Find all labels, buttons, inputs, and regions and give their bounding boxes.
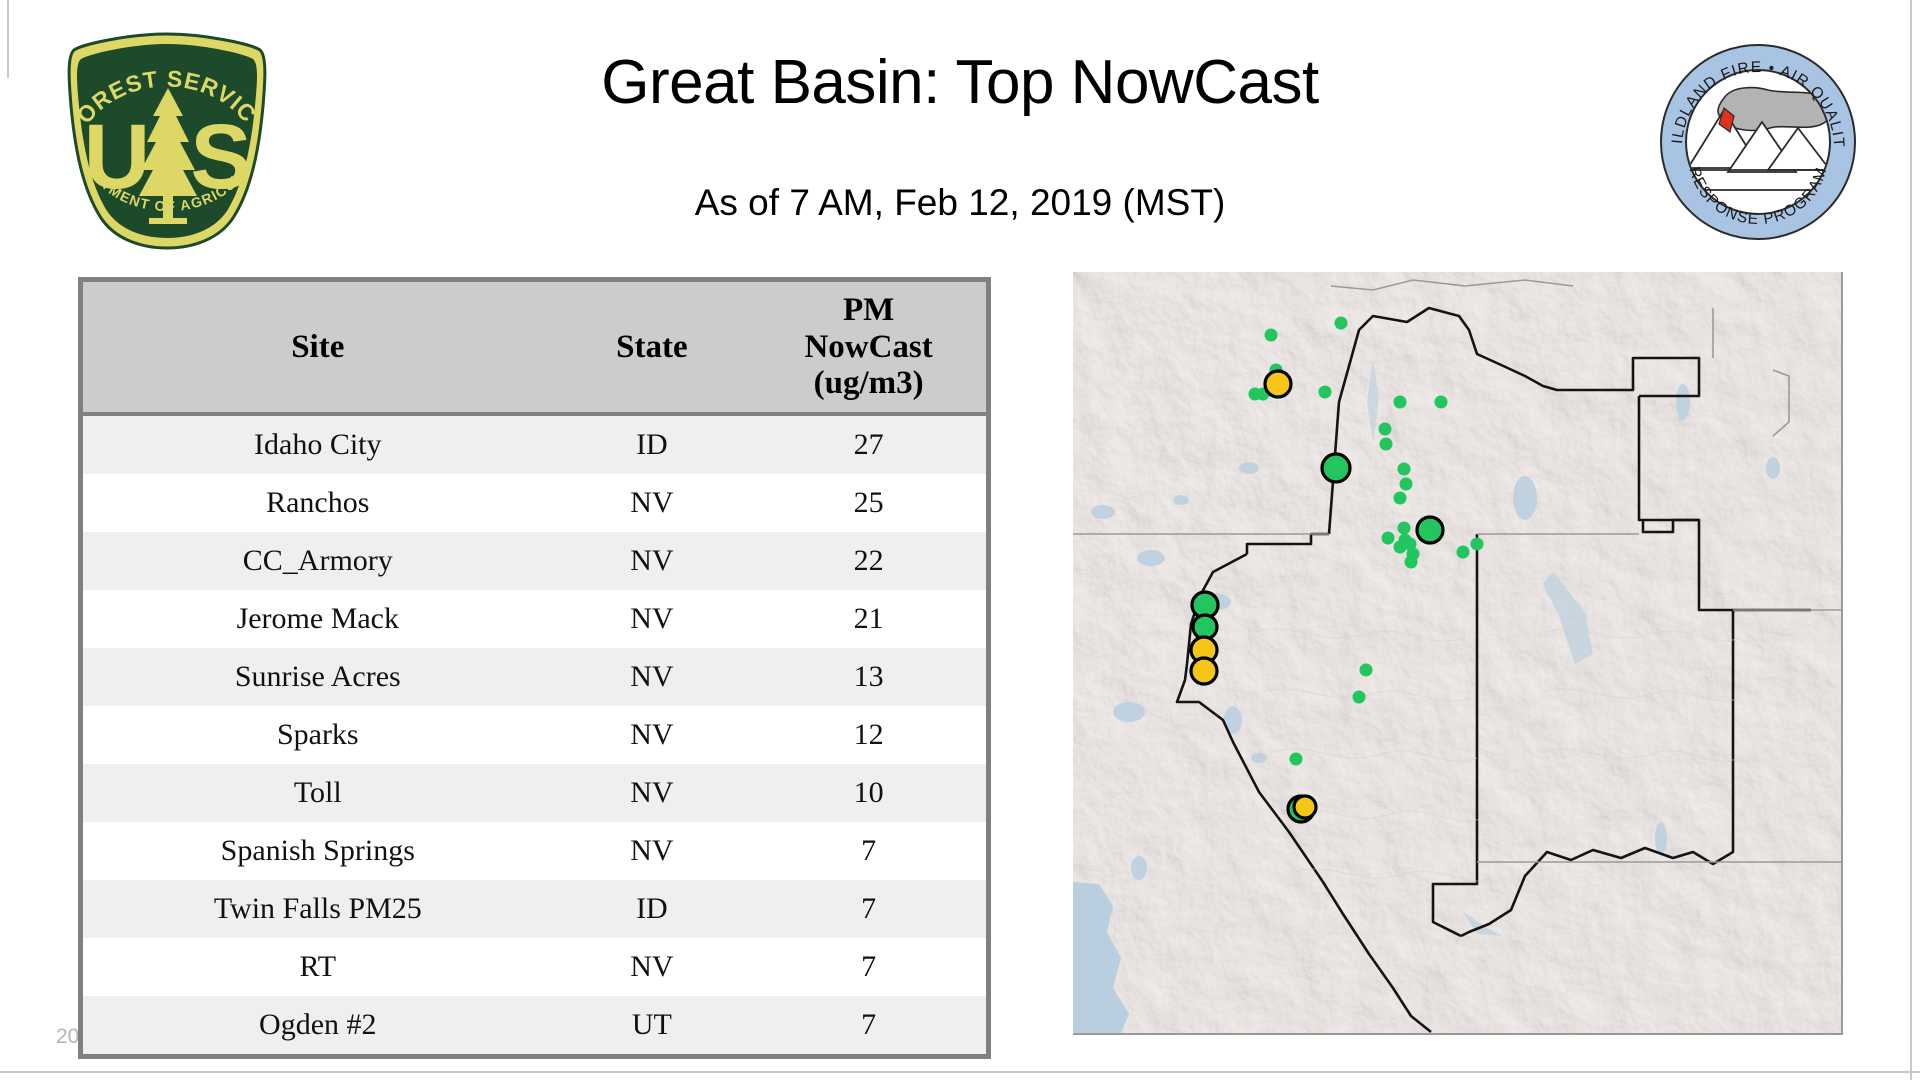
table-row[interactable]: Twin Falls PM25ID7	[83, 880, 986, 938]
cell-state: NV	[553, 648, 752, 706]
slide-edge-left-rule	[7, 0, 9, 78]
map-station-marker-minor[interactable]	[1335, 317, 1348, 330]
wfaqrp-logo: WILDLAND FIRE • AIR QUALITY RESPONSE PRO…	[1658, 42, 1858, 242]
cell-state: ID	[553, 414, 752, 474]
map-station-marker-minor[interactable]	[1380, 438, 1393, 451]
nowcast-table: Site State PM NowCast (ug/m3) Idaho City…	[83, 282, 986, 1054]
table-body: Idaho CityID27RanchosNV25CC_ArmoryNV22Je…	[83, 414, 986, 1054]
cell-pm-nowcast: 22	[751, 532, 986, 590]
cell-pm-nowcast: 10	[751, 764, 986, 822]
cell-state: NV	[553, 590, 752, 648]
map-station-marker-minor[interactable]	[1382, 532, 1395, 545]
map-station-marker-minor[interactable]	[1400, 478, 1413, 491]
table-row[interactable]: Jerome MackNV21	[83, 590, 986, 648]
map-station-marker-minor[interactable]	[1398, 522, 1411, 535]
page-title: Great Basin: Top NowCast	[300, 50, 1620, 115]
page-subtitle: As of 7 AM, Feb 12, 2019 (MST)	[300, 182, 1620, 224]
nowcast-table-container: Site State PM NowCast (ug/m3) Idaho City…	[78, 277, 991, 1059]
cell-site: CC_Armory	[83, 532, 553, 590]
table-row[interactable]: RanchosNV25	[83, 474, 986, 532]
cell-site: Idaho City	[83, 414, 553, 474]
map-station-marker-minor[interactable]	[1319, 386, 1332, 399]
cell-state: NV	[553, 706, 752, 764]
map-station-marker-minor[interactable]	[1457, 546, 1470, 559]
cell-pm-nowcast: 12	[751, 706, 986, 764]
map-station-marker-minor[interactable]	[1290, 753, 1303, 766]
great-basin-aqi-map[interactable]: Idaho CityTwin Falls PM25Ogden #2Spanish…	[1073, 272, 1843, 1035]
cell-site: Jerome Mack	[83, 590, 553, 648]
cell-pm-nowcast: 13	[751, 648, 986, 706]
cell-pm-nowcast: 27	[751, 414, 986, 474]
column-header-pm-line3: (ug/m3)	[753, 365, 984, 402]
usfs-shield-logo: FOREST SERVICE DEPARTMENT OF AGRICULTURE…	[55, 30, 280, 252]
map-station-marker-top[interactable]: Sparks	[1193, 615, 1217, 639]
table-row[interactable]: TollNV10	[83, 764, 986, 822]
table-row[interactable]: SparksNV12	[83, 706, 986, 764]
cell-site: RT	[83, 938, 553, 996]
column-header-pm-line1: PM	[753, 292, 984, 329]
column-header-state-label: State	[616, 329, 687, 365]
slide-edge-right-rule	[1910, 0, 1912, 1080]
column-header-pm-nowcast[interactable]: PM NowCast (ug/m3)	[751, 282, 986, 414]
usfs-letter-u: U	[84, 106, 150, 208]
cell-site: Ogden #2	[83, 996, 553, 1054]
map-station-marker-top[interactable]: Twin Falls PM25	[1322, 454, 1350, 482]
map-canvas[interactable]: Idaho CityTwin Falls PM25Ogden #2Spanish…	[1073, 272, 1841, 1033]
map-station-marker-minor[interactable]	[1379, 423, 1392, 436]
column-header-site-label: Site	[291, 329, 344, 365]
cell-state: NV	[553, 474, 752, 532]
map-station-marker-top[interactable]: Ogden #2	[1417, 517, 1443, 543]
cell-state: NV	[553, 764, 752, 822]
map-station-marker-minor[interactable]	[1435, 396, 1448, 409]
cell-pm-nowcast: 7	[751, 996, 986, 1054]
cell-state: NV	[553, 822, 752, 880]
table-header-row: Site State PM NowCast (ug/m3)	[83, 282, 986, 414]
cell-pm-nowcast: 25	[751, 474, 986, 532]
column-header-site[interactable]: Site	[83, 282, 553, 414]
cell-state: NV	[553, 532, 752, 590]
table-header: Site State PM NowCast (ug/m3)	[83, 282, 986, 414]
cell-site: Toll	[83, 764, 553, 822]
table-row[interactable]: Sunrise AcresNV13	[83, 648, 986, 706]
column-header-state[interactable]: State	[553, 282, 752, 414]
map-station-marker-minor[interactable]	[1471, 538, 1484, 551]
map-station-marker-minor[interactable]	[1265, 329, 1278, 342]
map-station-marker-top[interactable]: Idaho City	[1265, 371, 1291, 397]
map-station-marker-minor[interactable]	[1360, 664, 1373, 677]
map-station-marker-top[interactable]: Sunrise Acres	[1294, 796, 1316, 818]
cell-site: Sunrise Acres	[83, 648, 553, 706]
map-station-marker-minor[interactable]	[1394, 396, 1407, 409]
map-station-marker-minor[interactable]	[1398, 463, 1411, 476]
usfs-letter-s: S	[190, 106, 251, 208]
cell-state: ID	[553, 880, 752, 938]
map-station-marker-top[interactable]: Ranchos	[1191, 658, 1217, 684]
cell-site: Sparks	[83, 706, 553, 764]
cell-site: Ranchos	[83, 474, 553, 532]
cell-pm-nowcast: 7	[751, 880, 986, 938]
cell-state: UT	[553, 996, 752, 1054]
map-station-marker-minor[interactable]	[1353, 691, 1366, 704]
cell-site: Spanish Springs	[83, 822, 553, 880]
table-row[interactable]: Idaho CityID27	[83, 414, 986, 474]
cell-site: Twin Falls PM25	[83, 880, 553, 938]
cell-pm-nowcast: 21	[751, 590, 986, 648]
slide-edge-bottom-rule	[0, 1071, 1920, 1073]
map-station-marker-minor[interactable]	[1394, 492, 1407, 505]
cell-pm-nowcast: 7	[751, 938, 986, 996]
map-station-marker-minor[interactable]	[1405, 556, 1418, 569]
table-row[interactable]: RTNV7	[83, 938, 986, 996]
table-row[interactable]: CC_ArmoryNV22	[83, 532, 986, 590]
cell-pm-nowcast: 7	[751, 822, 986, 880]
table-row[interactable]: Ogden #2UT7	[83, 996, 986, 1054]
table-row[interactable]: Spanish SpringsNV7	[83, 822, 986, 880]
column-header-pm-line2: NowCast	[753, 329, 984, 366]
cell-state: NV	[553, 938, 752, 996]
